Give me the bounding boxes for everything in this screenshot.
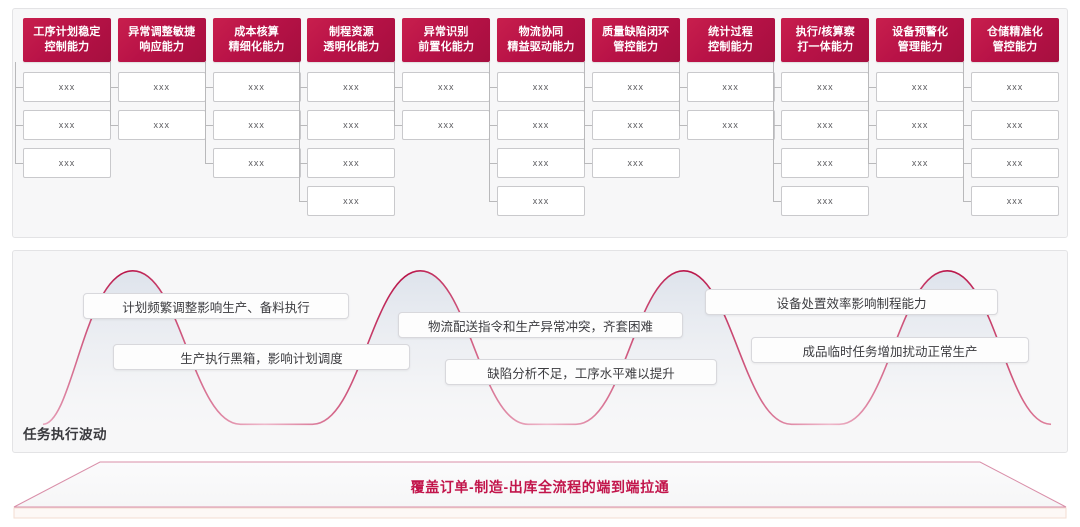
capability-header[interactable]: 异常识别前置化能力 xyxy=(402,18,490,62)
capability-header-line2: 响应能力 xyxy=(128,40,195,55)
capability-item-box[interactable]: xxx xyxy=(687,110,775,140)
flow-banner-text: 覆盖订单-制造-出库全流程的端到端拉通 xyxy=(12,477,1068,497)
capability-item-box[interactable]: xxx xyxy=(876,72,964,102)
capability-header-line2: 前置化能力 xyxy=(418,40,474,55)
capability-column: 设备预警化管理能力xxxxxxxxx xyxy=(876,18,964,229)
capability-header-text: 异常识别前置化能力 xyxy=(418,25,474,55)
capability-header[interactable]: 质量缺陷闭环管控能力 xyxy=(592,18,680,62)
issue-label[interactable]: 生产执行黑箱，影响计划调度 xyxy=(113,344,410,370)
capability-item-box[interactable]: xxx xyxy=(781,148,869,178)
capability-header-text: 执行/核算察打一体能力 xyxy=(796,25,855,55)
capability-item-box[interactable]: xxx xyxy=(592,148,680,178)
capability-header-line1: 异常识别 xyxy=(418,25,474,40)
capability-header[interactable]: 仓储精准化管控能力 xyxy=(971,18,1059,62)
capability-item-box[interactable]: xxx xyxy=(23,72,111,102)
capability-item-list: xxxxxxxxxxxx xyxy=(781,72,869,216)
capability-item-list: xxxxxx xyxy=(402,72,490,140)
capability-item-box[interactable]: xxx xyxy=(23,148,111,178)
capability-item-box[interactable]: xxx xyxy=(497,148,585,178)
capability-item-box[interactable]: xxx xyxy=(402,72,490,102)
capability-header-text: 工序计划稳定控制能力 xyxy=(33,25,100,55)
capability-item-list: xxxxxxxxx xyxy=(876,72,964,178)
capability-header-line1: 设备预警化 xyxy=(892,25,948,40)
capability-header[interactable]: 制程资源透明化能力 xyxy=(307,18,395,62)
issue-label[interactable]: 设备处置效率影响制程能力 xyxy=(705,289,998,315)
wave-caption: 任务执行波动 xyxy=(23,423,107,443)
capability-header[interactable]: 成本核算精细化能力 xyxy=(213,18,301,62)
task-fluctuation-panel: 计划频繁调整影响生产、备料执行 生产执行黑箱，影响计划调度 物流配送指令和生产异… xyxy=(12,250,1068,453)
capability-item-list: xxxxxxxxx xyxy=(592,72,680,178)
capability-header[interactable]: 异常调整敏捷响应能力 xyxy=(118,18,206,62)
capability-header-line1: 执行/核算察 xyxy=(796,25,855,40)
capability-header-line2: 精益驱动能力 xyxy=(507,40,574,55)
capability-item-box[interactable]: xxx xyxy=(971,186,1059,216)
issue-label[interactable]: 缺陷分析不足，工序水平难以提升 xyxy=(445,359,717,385)
capability-panel: 工序计划稳定控制能力xxxxxxxxx异常调整敏捷响应能力xxxxxx成本核算精… xyxy=(12,8,1068,238)
capability-column: 异常调整敏捷响应能力xxxxxx xyxy=(118,18,206,229)
capability-item-box[interactable]: xxx xyxy=(118,72,206,102)
capability-column: 执行/核算察打一体能力xxxxxxxxxxxx xyxy=(781,18,869,229)
capability-item-box[interactable]: xxx xyxy=(592,110,680,140)
capability-item-list: xxxxxxxxxxxx xyxy=(497,72,585,216)
capability-column: 制程资源透明化能力xxxxxxxxxxxx xyxy=(307,18,395,229)
issue-label[interactable]: 物流配送指令和生产异常冲突，齐套困难 xyxy=(398,312,683,338)
capability-column: 质量缺陷闭环管控能力xxxxxxxxx xyxy=(592,18,680,229)
capability-header[interactable]: 统计过程控制能力 xyxy=(687,18,775,62)
capability-column: 成本核算精细化能力xxxxxxxxx xyxy=(213,18,301,229)
capability-item-box[interactable]: xxx xyxy=(781,110,869,140)
capability-item-box[interactable]: xxx xyxy=(307,148,395,178)
capability-header-line1: 工序计划稳定 xyxy=(33,25,100,40)
capability-header[interactable]: 工序计划稳定控制能力 xyxy=(23,18,111,62)
capability-header-line2: 打一体能力 xyxy=(796,40,855,55)
capability-column: 统计过程控制能力xxxxxx xyxy=(687,18,775,229)
capability-item-box[interactable]: xxx xyxy=(118,110,206,140)
capability-header-line2: 精细化能力 xyxy=(229,40,285,55)
capability-item-box[interactable]: xxx xyxy=(876,148,964,178)
capability-item-box[interactable]: xxx xyxy=(971,72,1059,102)
capability-item-list: xxxxxx xyxy=(687,72,775,140)
capability-header-line1: 质量缺陷闭环 xyxy=(602,25,669,40)
capability-item-box[interactable]: xxx xyxy=(781,72,869,102)
capability-header-text: 质量缺陷闭环管控能力 xyxy=(602,25,669,55)
capability-column: 仓储精准化管控能力xxxxxxxxxxxx xyxy=(971,18,1059,229)
capability-item-box[interactable]: xxx xyxy=(307,110,395,140)
capability-header-line2: 控制能力 xyxy=(708,40,753,55)
trapezoid-base-strip xyxy=(14,508,1066,518)
capability-header-line1: 成本核算 xyxy=(229,25,285,40)
capability-item-box[interactable]: xxx xyxy=(497,110,585,140)
connector-trunk xyxy=(15,62,16,163)
capability-header-line1: 异常调整敏捷 xyxy=(128,25,195,40)
capability-column-list: 工序计划稳定控制能力xxxxxxxxx异常调整敏捷响应能力xxxxxx成本核算精… xyxy=(13,9,1067,237)
capability-item-list: xxxxxx xyxy=(118,72,206,140)
capability-column: 工序计划稳定控制能力xxxxxxxxx xyxy=(23,18,111,229)
capability-header-text: 制程资源透明化能力 xyxy=(323,25,379,55)
capability-header-line1: 仓储精准化 xyxy=(987,25,1043,40)
capability-item-box[interactable]: xxx xyxy=(307,72,395,102)
capability-item-box[interactable]: xxx xyxy=(781,186,869,216)
capability-header-line2: 透明化能力 xyxy=(323,40,379,55)
capability-header[interactable]: 物流协同精益驱动能力 xyxy=(497,18,585,62)
capability-item-box[interactable]: xxx xyxy=(402,110,490,140)
capability-header-line1: 物流协同 xyxy=(507,25,574,40)
capability-item-box[interactable]: xxx xyxy=(307,186,395,216)
capability-item-box[interactable]: xxx xyxy=(497,186,585,216)
capability-header-text: 仓储精准化管控能力 xyxy=(987,25,1043,55)
issue-label[interactable]: 计划频繁调整影响生产、备料执行 xyxy=(83,293,349,319)
capability-header-line1: 制程资源 xyxy=(323,25,379,40)
capability-item-list: xxxxxxxxx xyxy=(213,72,301,178)
capability-header-line2: 管控能力 xyxy=(602,40,669,55)
capability-item-list: xxxxxxxxxxxx xyxy=(971,72,1059,216)
capability-item-box[interactable]: xxx xyxy=(213,72,301,102)
capability-item-box[interactable]: xxx xyxy=(497,72,585,102)
capability-header-text: 统计过程控制能力 xyxy=(708,25,753,55)
capability-item-box[interactable]: xxx xyxy=(213,110,301,140)
capability-item-box[interactable]: xxx xyxy=(23,110,111,140)
capability-header-text: 设备预警化管理能力 xyxy=(892,25,948,55)
capability-item-box[interactable]: xxx xyxy=(687,72,775,102)
capability-column: 异常识别前置化能力xxxxxx xyxy=(402,18,490,229)
capability-header-line1: 统计过程 xyxy=(708,25,753,40)
capability-header-text: 物流协同精益驱动能力 xyxy=(507,25,574,55)
capability-item-list: xxxxxxxxxxxx xyxy=(307,72,395,216)
capability-item-box[interactable]: xxx xyxy=(971,148,1059,178)
capability-header-line2: 控制能力 xyxy=(33,40,100,55)
capability-header[interactable]: 执行/核算察打一体能力 xyxy=(781,18,869,62)
capability-item-box[interactable]: xxx xyxy=(592,72,680,102)
capability-item-box[interactable]: xxx xyxy=(971,110,1059,140)
capability-header-line2: 管控能力 xyxy=(987,40,1043,55)
capability-header-text: 异常调整敏捷响应能力 xyxy=(128,25,195,55)
capability-item-box[interactable]: xxx xyxy=(876,110,964,140)
capability-header-text: 成本核算精细化能力 xyxy=(229,25,285,55)
end-to-end-flow-banner: 覆盖订单-制造-出库全流程的端到端拉通 xyxy=(12,461,1068,519)
capability-header-line2: 管理能力 xyxy=(892,40,948,55)
issue-label[interactable]: 成品临时任务增加扰动正常生产 xyxy=(751,337,1029,363)
capability-item-box[interactable]: xxx xyxy=(213,148,301,178)
diagram-root: 工序计划稳定控制能力xxxxxxxxx异常调整敏捷响应能力xxxxxx成本核算精… xyxy=(0,0,1080,527)
capability-column: 物流协同精益驱动能力xxxxxxxxxxxx xyxy=(497,18,585,229)
capability-item-list: xxxxxxxxx xyxy=(23,72,111,178)
capability-header[interactable]: 设备预警化管理能力 xyxy=(876,18,964,62)
